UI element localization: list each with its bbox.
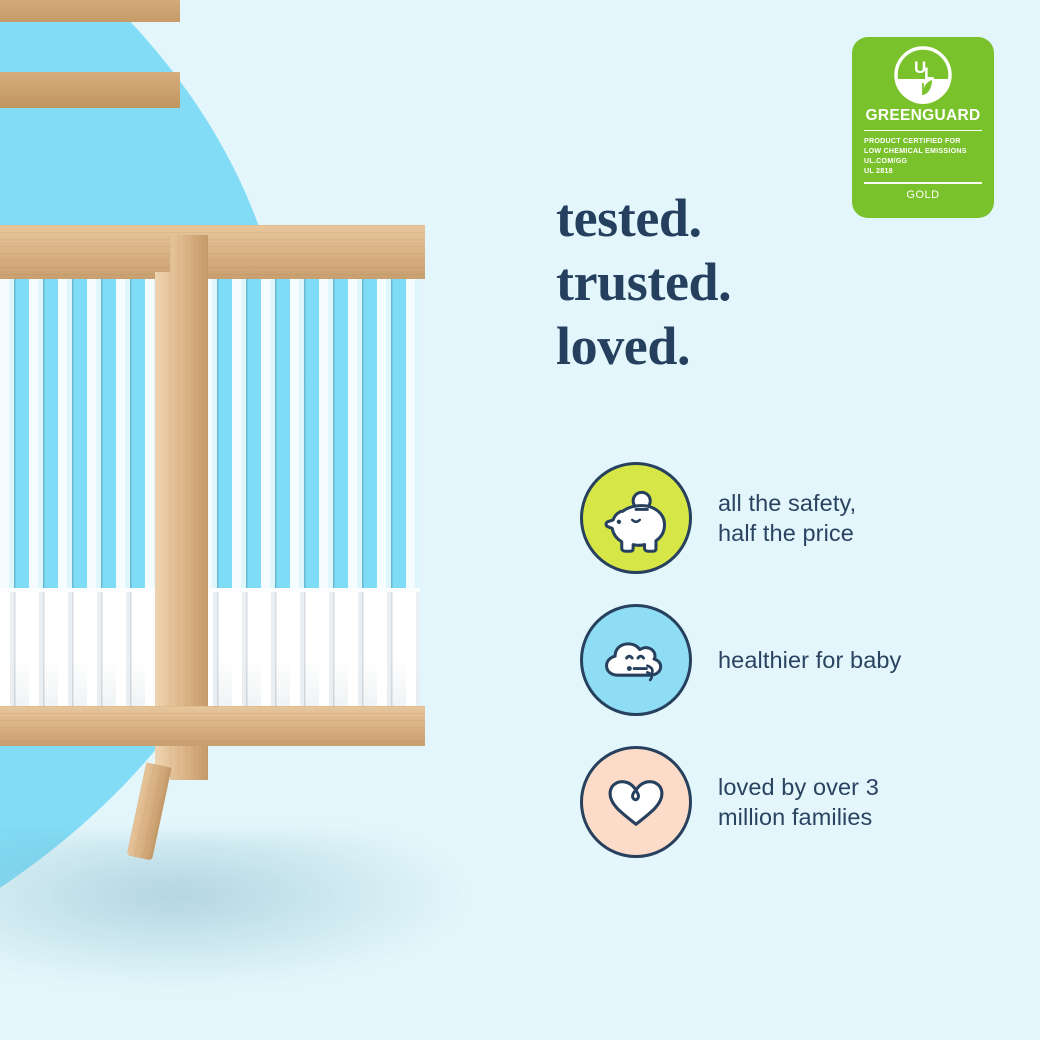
svg-text:L: L: [924, 64, 934, 83]
headline: tested. trusted. loved.: [556, 186, 976, 378]
feature-item-loved: loved by over 3 million families: [580, 744, 1000, 859]
feature-label-savings-line2: half the price: [718, 518, 856, 548]
feature-list: all the safety, half the price healthier…: [580, 460, 1000, 886]
product-photo: [0, 0, 560, 1040]
crib-top-rail: [0, 225, 425, 279]
marketing-banner: U L GREENGUARD PRODUCT CERTIFIED FOR LOW…: [0, 0, 1040, 1040]
headline-line-1: tested.: [556, 186, 976, 250]
fine-print-line-3: UL.COM/GG: [864, 156, 994, 166]
crib-slats-lower: [0, 592, 420, 712]
fine-print-line-4: UL 2818: [864, 166, 994, 176]
crib-leg: [127, 762, 172, 860]
crib-corner-post: [170, 235, 208, 780]
ul-mark-icon: U L: [894, 46, 952, 104]
feature-item-savings: all the safety, half the price: [580, 460, 1000, 575]
feature-label-savings: all the safety, half the price: [718, 488, 856, 548]
badge-title: GREENGUARD: [852, 108, 994, 124]
heart-icon: [580, 746, 692, 858]
crib-bottom-rail-face: [0, 72, 180, 108]
feature-label-loved-line1: loved by over 3: [718, 772, 879, 802]
feature-label-health: healthier for baby: [718, 645, 901, 675]
badge-fine-print: PRODUCT CERTIFIED FOR LOW CHEMICAL EMISS…: [852, 136, 994, 176]
cloud-blowing-icon: [580, 604, 692, 716]
crib-top-rail-face: [0, 0, 180, 22]
badge-divider-bottom: [864, 182, 982, 184]
fine-print-line-1: PRODUCT CERTIFIED FOR: [864, 136, 994, 146]
headline-line-3: loved.: [556, 314, 976, 378]
fine-print-line-2: LOW CHEMICAL EMISSIONS: [864, 146, 994, 156]
crib-illustration: [0, 0, 510, 900]
headline-line-2: trusted.: [556, 250, 976, 314]
feature-label-loved-line2: million families: [718, 802, 879, 832]
feature-label-loved: loved by over 3 million families: [718, 772, 879, 832]
feature-item-health: healthier for baby: [580, 602, 1000, 717]
piggy-bank-icon: [580, 462, 692, 574]
badge-divider-top: [864, 130, 982, 132]
feature-label-health-line1: healthier for baby: [718, 645, 901, 675]
feature-label-savings-line1: all the safety,: [718, 488, 856, 518]
crib-bottom-rail: [0, 706, 425, 746]
